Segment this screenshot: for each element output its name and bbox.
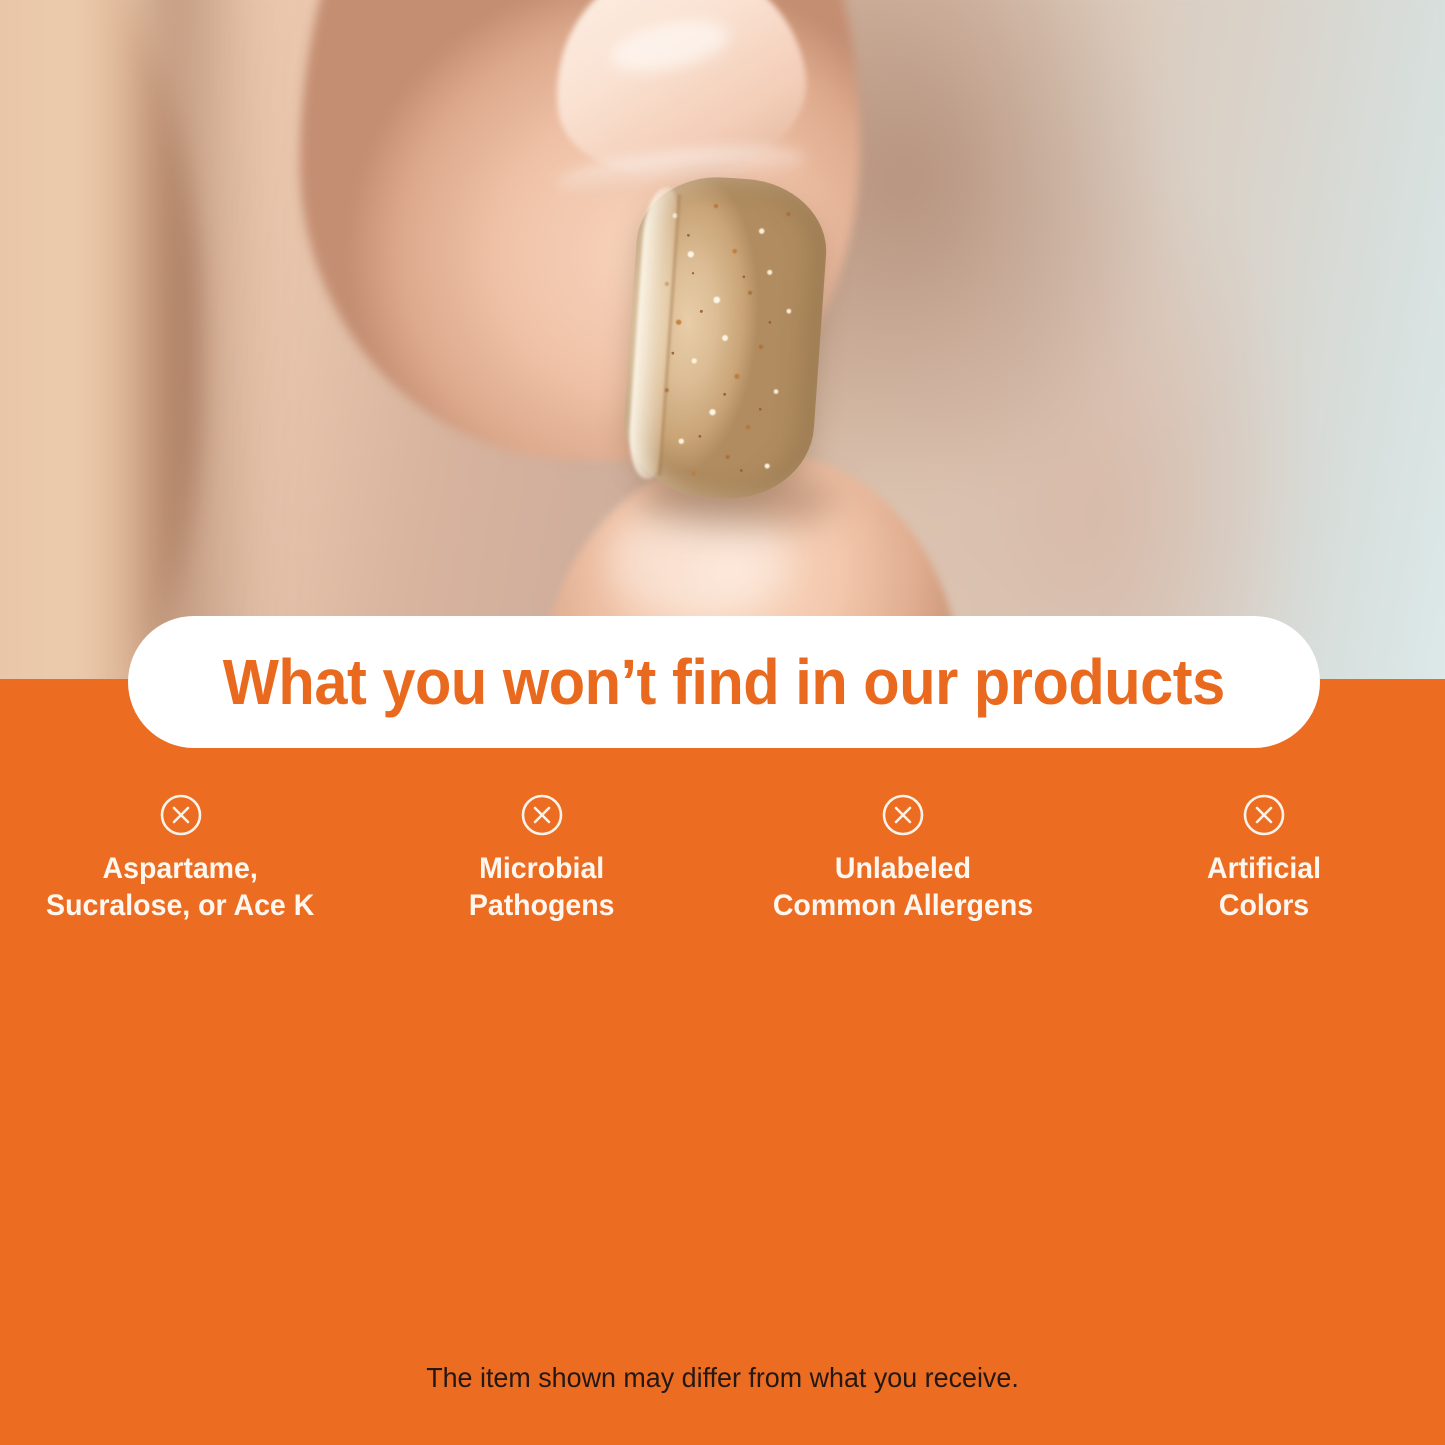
list-item: Microbial Pathogens bbox=[361, 793, 722, 960]
circle-x-icon bbox=[881, 793, 925, 837]
page-title: What you won’t find in our products bbox=[223, 650, 1225, 714]
list-item-label: Microbial Pathogens bbox=[469, 851, 615, 924]
list-item: Unlabeled Common Allergens bbox=[723, 793, 1084, 960]
supplement-tablet bbox=[619, 172, 831, 504]
excluded-ingredients-panel: Aspartame, Sucralose, or Ace K Microbial… bbox=[0, 679, 1445, 1445]
circle-x-icon bbox=[520, 793, 564, 837]
hand-holding-tablet-photo bbox=[0, 0, 1445, 679]
disclaimer-text: The item shown may differ from what you … bbox=[29, 1362, 1416, 1394]
list-item: Aspartame, Sucralose, or Ace K bbox=[0, 793, 361, 960]
page-title-part1: What you bbox=[223, 646, 503, 718]
page-title-part2: find in our products bbox=[656, 646, 1225, 718]
list-item-label: Unlabeled Common Allergens bbox=[773, 851, 1033, 924]
list-item: Artificial Colors bbox=[1084, 793, 1445, 960]
list-item-label: Aspartame, Sucralose, or Ace K bbox=[47, 851, 315, 924]
excluded-ingredients-grid: Aspartame, Sucralose, or Ace K Microbial… bbox=[0, 793, 1445, 983]
grid-row: Aspartame, Sucralose, or Ace K Microbial… bbox=[0, 793, 1445, 983]
page-title-emphasis: won’t bbox=[503, 646, 656, 718]
circle-x-icon bbox=[1242, 793, 1286, 837]
circle-x-icon bbox=[159, 793, 203, 837]
product-infographic-canvas: What you won’t find in our products Aspa… bbox=[0, 0, 1445, 1445]
left-finger-shadow bbox=[150, 0, 270, 679]
list-item-label: Artificial Colors bbox=[1207, 851, 1321, 924]
heading-banner: What you won’t find in our products bbox=[128, 616, 1320, 748]
